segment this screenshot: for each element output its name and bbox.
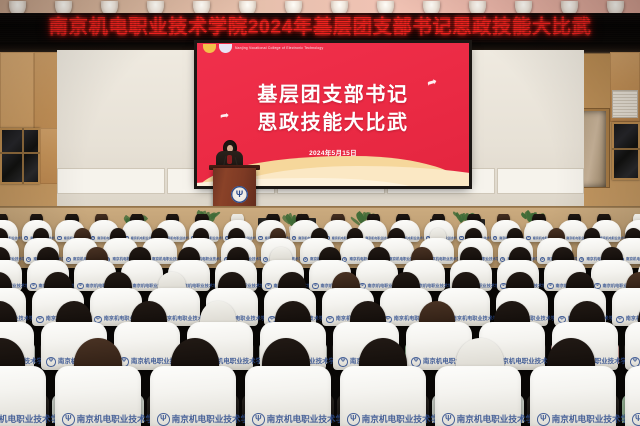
screen-title: 基层团支部书记 思政技能大比武 [197, 81, 469, 138]
vent-grille-right [612, 90, 638, 118]
window-mullion-left-v [22, 128, 24, 184]
auditorium-photo: 南京机电职业技术学院2024年基层团支部书记思政技能大比武 [0, 0, 640, 426]
audience-area: Ψ南京机电职业技术学院Ψ南京机电职业技术学院Ψ南京机电职业技术学院Ψ南京机电职业… [0, 214, 640, 426]
chair-with-cover[interactable]: Ψ南京机电职业技术学院 [530, 366, 616, 426]
led-banner-text: 南京机电职业技术学院2024年基层团支部书记思政技能大比武 [49, 18, 592, 38]
chair-emblem: Ψ南京机电职业技术学院 [157, 413, 258, 426]
led-banner: 南京机电职业技术学院2024年基层团支部书记思政技能大比武 [0, 13, 640, 43]
chair-with-cover[interactable]: Ψ南京机电职业技术学院 [245, 366, 331, 426]
chair-emblem-ring: Ψ [347, 413, 360, 426]
acoustic-tile [57, 168, 165, 194]
speaker-accent [227, 155, 232, 164]
chair-emblem: Ψ南京机电职业技术学院 [252, 413, 353, 426]
chair-emblem-ring: Ψ [632, 413, 640, 426]
chair-emblem-ring: Ψ [26, 257, 31, 262]
chair-emblem: Ψ南京机电职业技术学院 [632, 413, 640, 426]
chair-emblem-ring: Ψ [66, 257, 71, 262]
chair-with-cover[interactable]: Ψ南京机电职业技术学院 [435, 366, 521, 426]
chair-emblem-ring: Ψ [326, 316, 334, 324]
chair-emblem-ring: Ψ [265, 283, 271, 289]
chair-emblem: Ψ南京机电职业技术学院 [442, 413, 543, 426]
screen-title-line-1: 基层团支部书记 [197, 81, 469, 109]
window-mullion-right [612, 148, 640, 150]
podium-emblem: Ψ [231, 186, 248, 203]
chair-emblem-ring: Ψ [36, 316, 44, 324]
chair-emblem-ring: Ψ [547, 283, 553, 289]
chair-with-cover[interactable]: Ψ南京机电职业技术学院 [625, 322, 640, 370]
chair-emblem-ring: Ψ [24, 236, 28, 240]
chair-emblem-ring: Ψ [493, 236, 497, 240]
screen-logo: Nanjing Vocational College of Electronic… [203, 43, 323, 54]
chair-emblem: Ψ南京机电职业技术学院 [537, 413, 638, 426]
chair-emblem-text: 南京机电职业技术学院 [626, 258, 640, 262]
chair-emblem-ring: Ψ [57, 236, 61, 240]
chair-emblem: Ψ南京机电职业技术学院 [62, 413, 163, 426]
chair-with-cover[interactable]: Ψ南京机电职业技术学院 [612, 288, 640, 326]
chair-emblem-ring: Ψ [537, 413, 550, 426]
chair-emblem-ring: Ψ [540, 257, 545, 262]
screen-title-line-2: 思政技能大比武 [197, 109, 469, 137]
chair-emblem-ring: Ψ [258, 236, 262, 240]
window-dark-left [0, 128, 40, 184]
chair-with-cover[interactable]: Ψ南京机电职业技术学院 [625, 366, 640, 426]
chair-emblem-ring: Ψ [312, 283, 318, 289]
screen-logo-mark-white [219, 44, 232, 53]
window-dark-right [612, 122, 640, 180]
chair-emblem: Ψ南京机电职业技术学院 [347, 413, 448, 426]
chair-emblem-ring: Ψ [616, 316, 624, 324]
chair-emblem-ring: Ψ [338, 357, 348, 367]
chair-with-cover[interactable]: Ψ南京机电职业技术学院 [55, 366, 141, 426]
chair-emblem-ring: Ψ [46, 357, 56, 367]
screen-logo-text: Nanjing Vocational College of Electronic… [235, 47, 323, 51]
chair-emblem-ring: Ψ [62, 413, 75, 426]
chair-emblem-ring: Ψ [30, 283, 36, 289]
chair-emblem-ring: Ψ [442, 413, 455, 426]
chair-emblem-ring: Ψ [77, 283, 83, 289]
chair-with-cover[interactable]: Ψ南京机电职业技术学院 [340, 366, 426, 426]
window-mullion-left [0, 152, 40, 154]
chair-emblem-ring: Ψ [303, 257, 308, 262]
acoustic-tile [497, 168, 584, 194]
chair-emblem-ring: Ψ [252, 413, 265, 426]
ceiling-strip [0, 0, 640, 14]
chair-emblem-ring: Ψ [157, 413, 170, 426]
chair-with-cover[interactable]: Ψ南京机电职业技术学院 [150, 366, 236, 426]
chair-emblem-ring: Ψ [292, 236, 296, 240]
screen-logo-mark-gold [203, 44, 216, 53]
chair-with-cover[interactable]: Ψ南京机电职业技术学院 [0, 366, 46, 426]
